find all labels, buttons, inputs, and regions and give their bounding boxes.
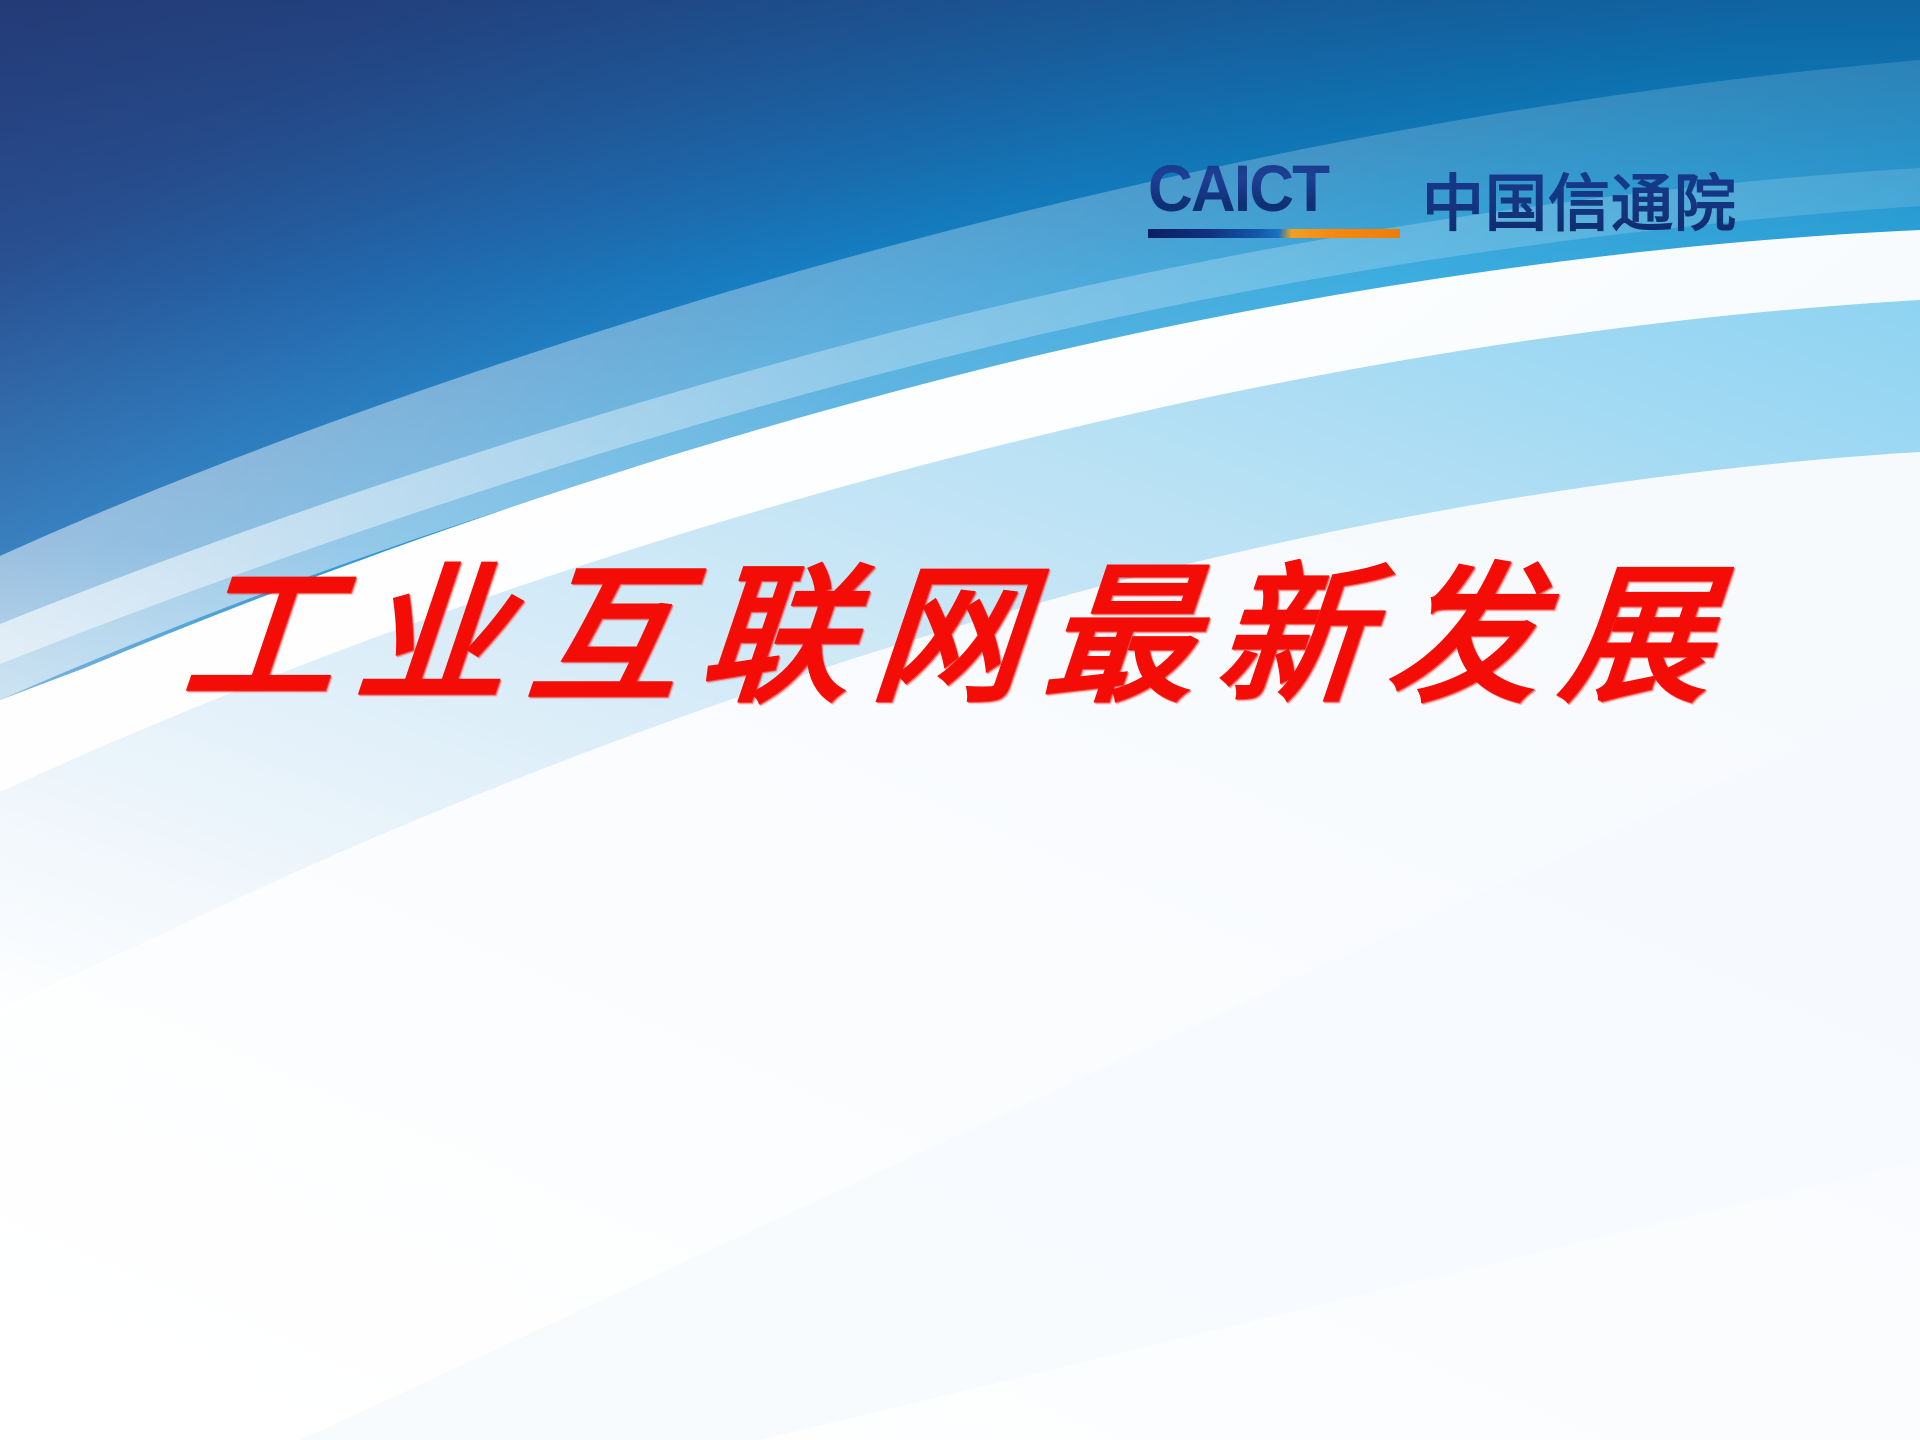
caict-chinese-name: 中国信通院 xyxy=(1422,172,1737,238)
page-title: 工业互联网最新发展 xyxy=(178,548,1741,724)
logo-underline-bar xyxy=(1148,229,1400,238)
logo-row: CAICT 中国信通院 xyxy=(1148,152,1737,238)
title-block: 工业互联网最新发展 xyxy=(0,548,1920,724)
title-slide: CAICT 中国信通院 工业互联网最新发展 xyxy=(0,0,1920,1440)
logo-wordmark-wrap: CAICT xyxy=(1148,153,1400,238)
caict-wordmark: CAICT xyxy=(1148,153,1385,223)
caict-logo: CAICT 中国信通院 xyxy=(1148,152,1628,272)
